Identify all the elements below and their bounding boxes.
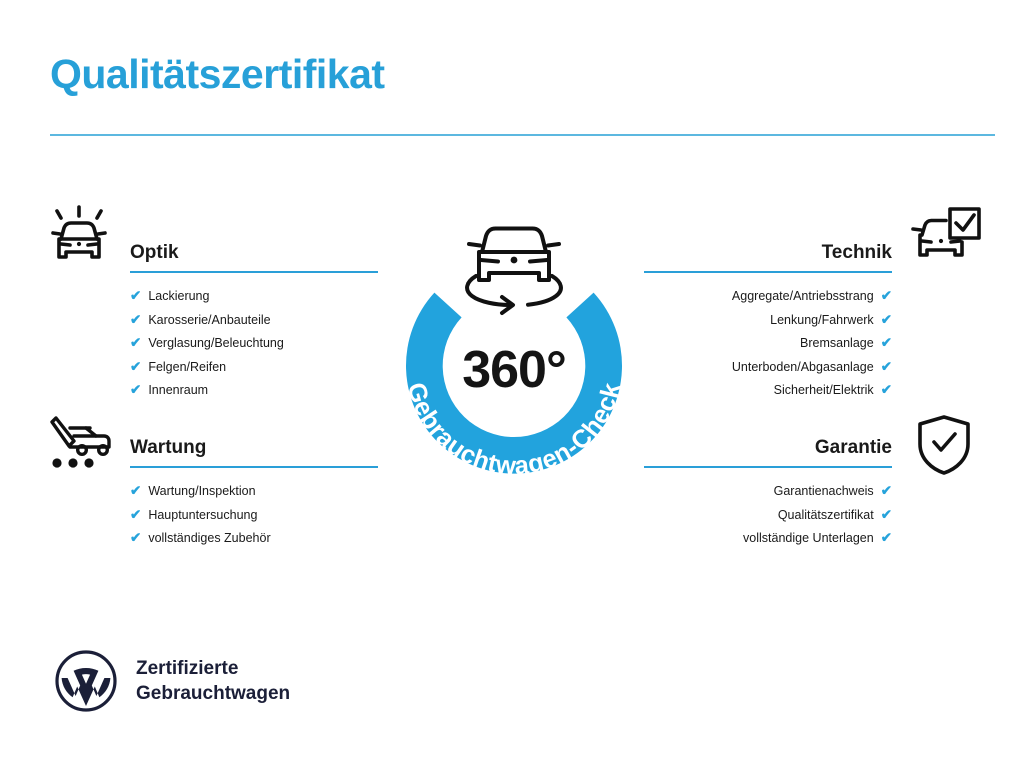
footer-line-2: Gebrauchtwagen xyxy=(136,681,290,706)
360-badge: Gebrauchtwagen-Check 360° xyxy=(376,196,652,496)
list-item-label: Unterboden/Abgasanlage xyxy=(732,356,874,380)
footer-text: Zertifizierte Gebrauchtwagen xyxy=(136,656,290,706)
section-divider-garantie xyxy=(644,466,892,468)
section-title-technik: Technik xyxy=(644,243,892,262)
check-icon: ✔ xyxy=(881,484,892,498)
checklist-optik: ✔Lackierung ✔Karosserie/Anbauteile ✔Verg… xyxy=(130,285,378,403)
section-divider-technik xyxy=(644,271,892,273)
check-icon: ✔ xyxy=(881,360,892,374)
car-front-shine-icon xyxy=(44,203,116,274)
car-lift-service-icon xyxy=(44,414,116,477)
certificate-page: Qualitätszertifikat xyxy=(0,0,1024,768)
page-title: Qualitätszertifikat xyxy=(50,52,385,97)
car-rotation-icon xyxy=(467,229,561,314)
section-optik: Optik ✔Lackierung ✔Karosserie/Anbauteile… xyxy=(130,243,378,403)
section-title-optik: Optik xyxy=(130,243,378,262)
check-icon: ✔ xyxy=(881,289,892,303)
shield-check-icon xyxy=(914,413,974,482)
badge-number: 360° xyxy=(376,340,652,400)
section-divider-optik xyxy=(130,271,378,273)
list-item-label: Hauptuntersuchung xyxy=(148,504,257,528)
list-item-label: vollständiges Zubehör xyxy=(148,527,270,551)
footer-line-1: Zertifizierte xyxy=(136,656,290,681)
vw-logo xyxy=(55,650,117,712)
check-icon: ✔ xyxy=(881,383,892,397)
check-icon: ✔ xyxy=(130,313,141,327)
list-item: Unterboden/Abgasanlage✔ xyxy=(644,356,892,380)
check-icon: ✔ xyxy=(130,336,141,350)
list-item: Bremsanlage✔ xyxy=(644,332,892,356)
check-icon: ✔ xyxy=(881,508,892,522)
car-checkbox-icon xyxy=(908,205,984,272)
list-item-label: Sicherheit/Elektrik xyxy=(774,379,874,403)
list-item: ✔Felgen/Reifen xyxy=(130,356,378,380)
section-title-wartung: Wartung xyxy=(130,438,378,457)
list-item: ✔vollständiges Zubehör xyxy=(130,527,378,551)
list-item-label: Qualitätszertifikat xyxy=(778,504,874,528)
footer-branding: Zertifizierte Gebrauchtwagen xyxy=(55,650,290,712)
list-item: vollständige Unterlagen✔ xyxy=(644,527,892,551)
list-item-label: Wartung/Inspektion xyxy=(148,480,255,504)
list-item: ✔Lackierung xyxy=(130,285,378,309)
check-icon: ✔ xyxy=(130,360,141,374)
section-technik: Technik Aggregate/Antriebsstrang✔ Lenkun… xyxy=(644,243,892,403)
check-icon: ✔ xyxy=(881,336,892,350)
list-item: Aggregate/Antriebsstrang✔ xyxy=(644,285,892,309)
list-item-label: Innenraum xyxy=(148,379,208,403)
checklist-technik: Aggregate/Antriebsstrang✔ Lenkung/Fahrwe… xyxy=(644,285,892,403)
list-item-label: Verglasung/Beleuchtung xyxy=(148,332,284,356)
check-icon: ✔ xyxy=(130,531,141,545)
list-item-label: Bremsanlage xyxy=(800,332,874,356)
list-item-label: Lenkung/Fahrwerk xyxy=(770,309,874,333)
list-item: ✔Wartung/Inspektion xyxy=(130,480,378,504)
checklist-garantie: Garantienachweis✔ Qualitätszertifikat✔ v… xyxy=(644,480,892,551)
list-item: ✔Hauptuntersuchung xyxy=(130,504,378,528)
check-icon: ✔ xyxy=(130,508,141,522)
list-item-label: vollständige Unterlagen xyxy=(743,527,874,551)
section-wartung: Wartung ✔Wartung/Inspektion ✔Hauptunters… xyxy=(130,438,378,551)
check-icon: ✔ xyxy=(881,313,892,327)
list-item: Lenkung/Fahrwerk✔ xyxy=(644,309,892,333)
check-icon: ✔ xyxy=(130,383,141,397)
section-divider-wartung xyxy=(130,466,378,468)
list-item: ✔Verglasung/Beleuchtung xyxy=(130,332,378,356)
list-item: Garantienachweis✔ xyxy=(644,480,892,504)
list-item-label: Karosserie/Anbauteile xyxy=(148,309,270,333)
check-icon: ✔ xyxy=(130,289,141,303)
list-item: Qualitätszertifikat✔ xyxy=(644,504,892,528)
check-icon: ✔ xyxy=(130,484,141,498)
section-title-garantie: Garantie xyxy=(644,438,892,457)
checklist-wartung: ✔Wartung/Inspektion ✔Hauptuntersuchung ✔… xyxy=(130,480,378,551)
check-icon: ✔ xyxy=(881,531,892,545)
section-garantie: Garantie Garantienachweis✔ Qualitätszert… xyxy=(644,438,892,551)
list-item-label: Felgen/Reifen xyxy=(148,356,226,380)
list-item: ✔Karosserie/Anbauteile xyxy=(130,309,378,333)
list-item: ✔Innenraum xyxy=(130,379,378,403)
list-item-label: Aggregate/Antriebsstrang xyxy=(732,285,874,309)
list-item-label: Garantienachweis xyxy=(774,480,874,504)
list-item: Sicherheit/Elektrik✔ xyxy=(644,379,892,403)
list-item-label: Lackierung xyxy=(148,285,209,309)
header-divider xyxy=(50,134,995,136)
